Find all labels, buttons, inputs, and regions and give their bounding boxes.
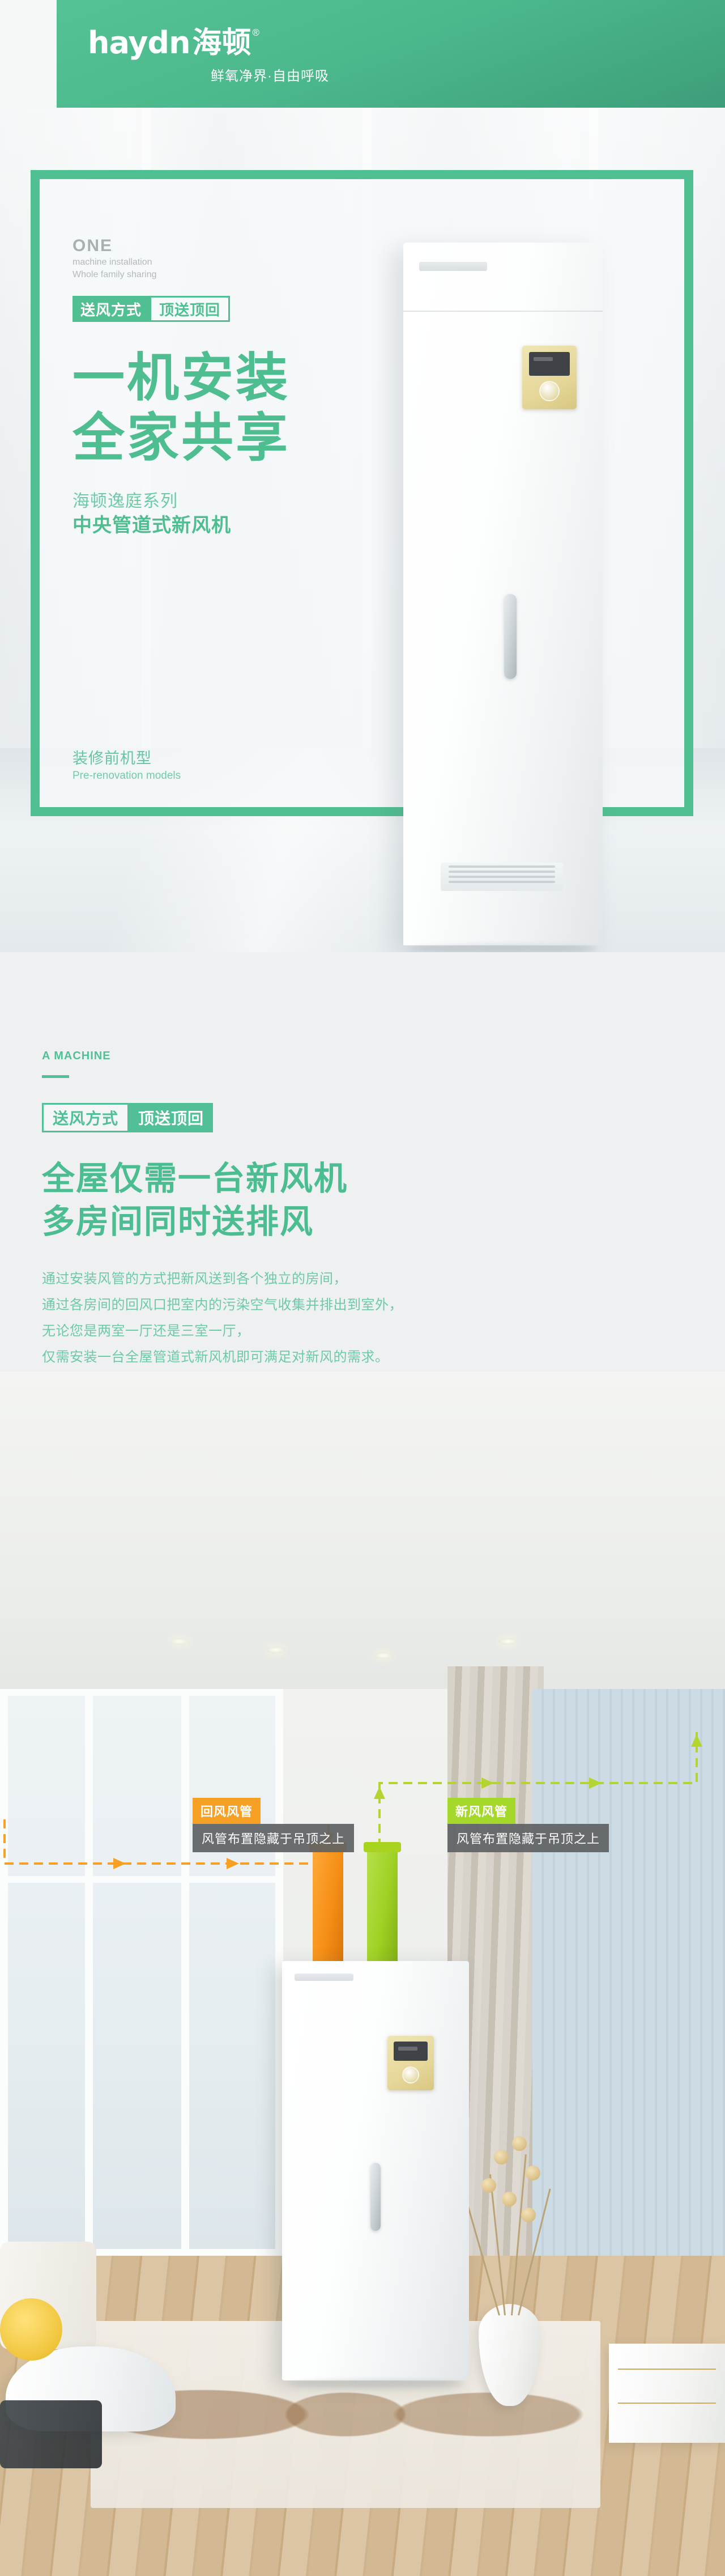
brand-tagline: 鲜氧净界·自由呼吸 (88, 65, 331, 84)
section-kicker: A MACHINE (42, 1050, 725, 1063)
room-side-table (0, 2400, 102, 2468)
flower-bud-icon (512, 2136, 527, 2151)
grille-slat (449, 881, 555, 883)
section2-body: 通过安装风管的方式把新风送到各个独立的房间， 通过各房间的回风口把室内的污染空气… (42, 1266, 725, 1370)
brand-header: haydn海顿® 鲜氧净界·自由呼吸 (0, 0, 725, 108)
product-unit-installed (282, 1961, 469, 2380)
logo-cjk-text: 海顿 (193, 27, 251, 59)
hero-section: ONE machine installation Whole family sh… (0, 108, 725, 952)
flower-stem (518, 2188, 551, 2315)
control-panel[interactable] (387, 2036, 434, 2090)
product-panel-seam (403, 311, 603, 312)
section2-headline-line1: 全屋仅需一台新风机 (42, 1157, 725, 1200)
return-duct-callout: 回风风管 风管布置隐藏于吊顶之上 (193, 1798, 354, 1852)
product-shadow (288, 2379, 463, 2388)
hero-tag-label: 送风方式 (72, 296, 150, 322)
brand-logo[interactable]: haydn海顿® 鲜氧净界·自由呼吸 (88, 27, 331, 84)
flower-bud-icon (526, 2166, 540, 2180)
logo-lockup: haydn海顿® (88, 27, 331, 59)
control-panel[interactable] (522, 346, 577, 409)
return-air-duct (313, 1848, 343, 1970)
flower-bud-icon (521, 2208, 536, 2222)
control-panel-display (529, 352, 570, 376)
room-plant (0, 2298, 62, 2361)
hero-footnote-cn: 装修前机型 (72, 748, 181, 769)
section2-airflow-tag-group: 送风方式 顶送顶回 (42, 1103, 268, 1132)
grille-slat (449, 871, 555, 873)
fresh-duct-callout-caption: 风管布置隐藏于吊顶之上 (447, 1824, 609, 1852)
feature-intro-section: A MACHINE 送风方式 顶送顶回 全屋仅需一台新风机 多房间同时送排风 通… (0, 952, 725, 1372)
registered-trademark-icon: ® (253, 27, 260, 39)
downlight-icon (266, 1646, 285, 1653)
downlight-icon (170, 1638, 189, 1645)
hero-airflow-tag-group: 送风方式 顶送顶回 (72, 296, 279, 322)
product-top-vent (295, 1974, 353, 1981)
hero-tag-value: 顶送顶回 (150, 296, 230, 322)
logo-latin-text: haydn (88, 27, 190, 59)
product-door-handle[interactable] (504, 594, 517, 679)
room-sideboard (609, 2344, 725, 2443)
product-detail-page: haydn海顿® 鲜氧净界·自由呼吸 ONE machine installat… (0, 0, 725, 2576)
section2-tag-label: 送风方式 (42, 1103, 129, 1132)
product-bottom-grille (441, 863, 563, 891)
product-top-vent (419, 262, 487, 271)
section2-headline: 全屋仅需一台新风机 多房间同时送排风 (42, 1157, 725, 1244)
control-panel-display (394, 2042, 428, 2061)
section-kicker-rule (42, 1075, 69, 1078)
product-unit-hero (403, 243, 603, 945)
flower-bud-icon (481, 2178, 496, 2193)
hero-footnote-en: Pre-renovation models (72, 769, 181, 783)
room-dried-flowers (464, 2128, 561, 2315)
fresh-duct-callout-title: 新风风管 (447, 1798, 515, 1824)
product-shadow (409, 944, 597, 952)
window-frame-horizontal (0, 1689, 283, 1696)
grille-slat (449, 876, 555, 878)
fresh-duct-cap (364, 1842, 401, 1852)
return-duct-callout-caption: 风管布置隐藏于吊顶之上 (193, 1824, 354, 1852)
downlight-icon (498, 1638, 518, 1645)
control-panel-knob[interactable] (539, 381, 560, 401)
section2-tag-value: 顶送顶回 (129, 1103, 213, 1132)
flower-bud-icon (502, 2192, 517, 2206)
section2-body-line: 通过各房间的回风口把室内的污染空气收集并排出到室外， (42, 1292, 725, 1318)
fresh-duct-callout: 新风风管 风管布置隐藏于吊顶之上 (447, 1798, 609, 1852)
flower-bud-icon (494, 2150, 509, 2165)
downlight-icon (374, 1652, 393, 1659)
sideboard-trim (618, 2369, 716, 2370)
section2-body-line: 仅需安装一台全屋管道式新风机即可满足对新风的需求。 (42, 1344, 725, 1370)
section2-body-line: 无论您是两室一厅还是三室一厅， (42, 1318, 725, 1344)
control-panel-knob[interactable] (402, 2066, 419, 2083)
hero-series-name: 海顿逸庭系列 (72, 492, 178, 511)
sideboard-trim (618, 2403, 716, 2404)
hero-footnote-block: 装修前机型 Pre-renovation models (72, 748, 181, 783)
product-door-handle[interactable] (370, 2163, 381, 2231)
grille-slat (449, 865, 555, 868)
fresh-air-duct (367, 1848, 398, 1970)
installation-scene-section: 回风风管 风管布置隐藏于吊顶之上 新风风管 风管布置隐藏于吊顶之上 (0, 1372, 725, 2576)
feature-intro-inner: A MACHINE 送风方式 顶送顶回 全屋仅需一台新风机 多房间同时送排风 通… (0, 1050, 725, 1370)
return-duct-callout-title: 回风风管 (193, 1798, 261, 1824)
section2-headline-line2: 多房间同时送排风 (42, 1200, 725, 1244)
section2-body-line: 通过安装风管的方式把新风送到各个独立的房间， (42, 1266, 725, 1292)
